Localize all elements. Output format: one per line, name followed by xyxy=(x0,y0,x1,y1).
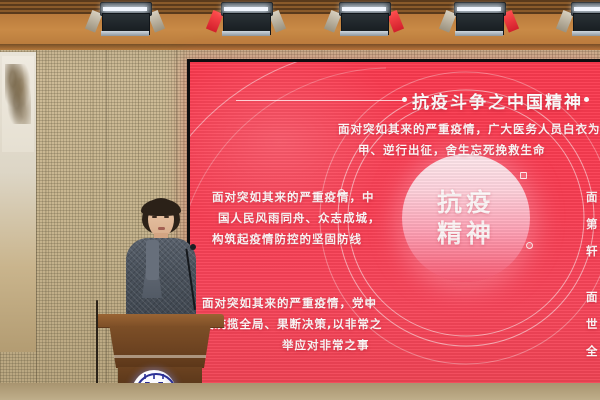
stage-spotlight xyxy=(94,0,156,38)
edge-text-lower-1: 面 xyxy=(586,287,599,308)
stage-spotlight xyxy=(215,0,277,38)
speaker-eye-right xyxy=(164,216,169,218)
sphere-label-line1: 抗疫 xyxy=(437,187,495,218)
jacket-collar xyxy=(146,240,159,280)
sphere-label: 抗疫 精神 xyxy=(402,158,530,278)
microphone-head xyxy=(190,244,196,250)
speaker-eye-left xyxy=(152,216,157,218)
lecture-hall-photo: 抗疫 精神 抗疫斗争之中国精神 面对突如其来的严重疫情，广大医务人员白衣为 甲、… xyxy=(0,0,600,400)
paragraph-medical-workers-line2: 甲、逆行出征，舍生忘死挽救生命 xyxy=(358,140,546,161)
edge-text-upper-1: 面 xyxy=(586,187,599,208)
title-leader-line xyxy=(236,100,404,101)
spotlight-lip xyxy=(101,31,149,36)
podium-front-panel xyxy=(105,326,215,368)
speaker-mouth xyxy=(158,227,165,230)
speaker-hair-fringe xyxy=(141,199,181,216)
floor-cable xyxy=(96,300,98,384)
paragraph-party-central-line2: 央统揽全局、果断决策,以非常之 xyxy=(202,314,382,335)
podium-trim-band xyxy=(114,355,206,358)
paragraph-medical-workers-line1: 面对突如其来的严重疫情，广大医务人员白衣为 xyxy=(338,119,600,140)
stage-spotlight xyxy=(333,0,395,38)
edge-text-upper-3: 轩 xyxy=(586,241,599,262)
podium-and-speaker xyxy=(96,196,224,400)
title-leader-dot xyxy=(402,97,407,102)
paragraph-chinese-people-line2: 国人民风雨同舟、众志成城， xyxy=(218,208,381,229)
stage-spotlight xyxy=(448,0,510,38)
spotlight-lip xyxy=(340,31,388,36)
paragraph-chinese-people-line1: 面对突如其来的严重疫情，中 xyxy=(212,187,375,208)
hanging-calligraphy-scroll xyxy=(2,56,34,152)
arc-node-marker xyxy=(520,172,527,179)
scroll-ink-painting xyxy=(5,64,31,124)
podium-desktop xyxy=(96,314,224,327)
emblem-tick xyxy=(144,374,146,379)
spotlight-glow xyxy=(574,7,600,11)
emblem-tick xyxy=(153,374,155,379)
spotlight-glow xyxy=(103,7,147,11)
spotlight-glow xyxy=(224,7,268,11)
soffit-shadow xyxy=(0,44,600,50)
spotlight-glow xyxy=(342,7,386,11)
edge-text-lower-3: 全 xyxy=(586,341,599,362)
edge-text-lower-2: 世 xyxy=(586,314,599,335)
screen-title: 抗疫斗争之中国精神 xyxy=(412,88,583,113)
sphere-label-line2: 精神 xyxy=(437,218,495,249)
paragraph-chinese-people-line3: 构筑起疫情防控的坚固防线 xyxy=(212,229,362,250)
paragraph-party-central-line1: 面对突如其来的严重疫情，党中 xyxy=(202,293,377,314)
floor-baseboard xyxy=(0,383,600,400)
spotlight-glow xyxy=(457,7,501,11)
spotlight-lip xyxy=(455,31,503,36)
speaker-presenter xyxy=(116,196,204,328)
spotlight-lip xyxy=(572,31,600,36)
stage-spotlight xyxy=(565,0,600,38)
title-end-dot xyxy=(584,97,589,102)
led-presentation-screen: 抗疫 精神 抗疫斗争之中国精神 面对突如其来的严重疫情，广大医务人员白衣为 甲、… xyxy=(190,62,600,383)
edge-text-upper-2: 第 xyxy=(586,214,599,235)
arc-node-marker xyxy=(526,242,533,249)
wall-seam xyxy=(36,48,37,400)
emblem-tick xyxy=(162,374,164,379)
paragraph-party-central-line3: 举应对非常之事 xyxy=(282,335,370,356)
spotlight-lip xyxy=(222,31,270,36)
